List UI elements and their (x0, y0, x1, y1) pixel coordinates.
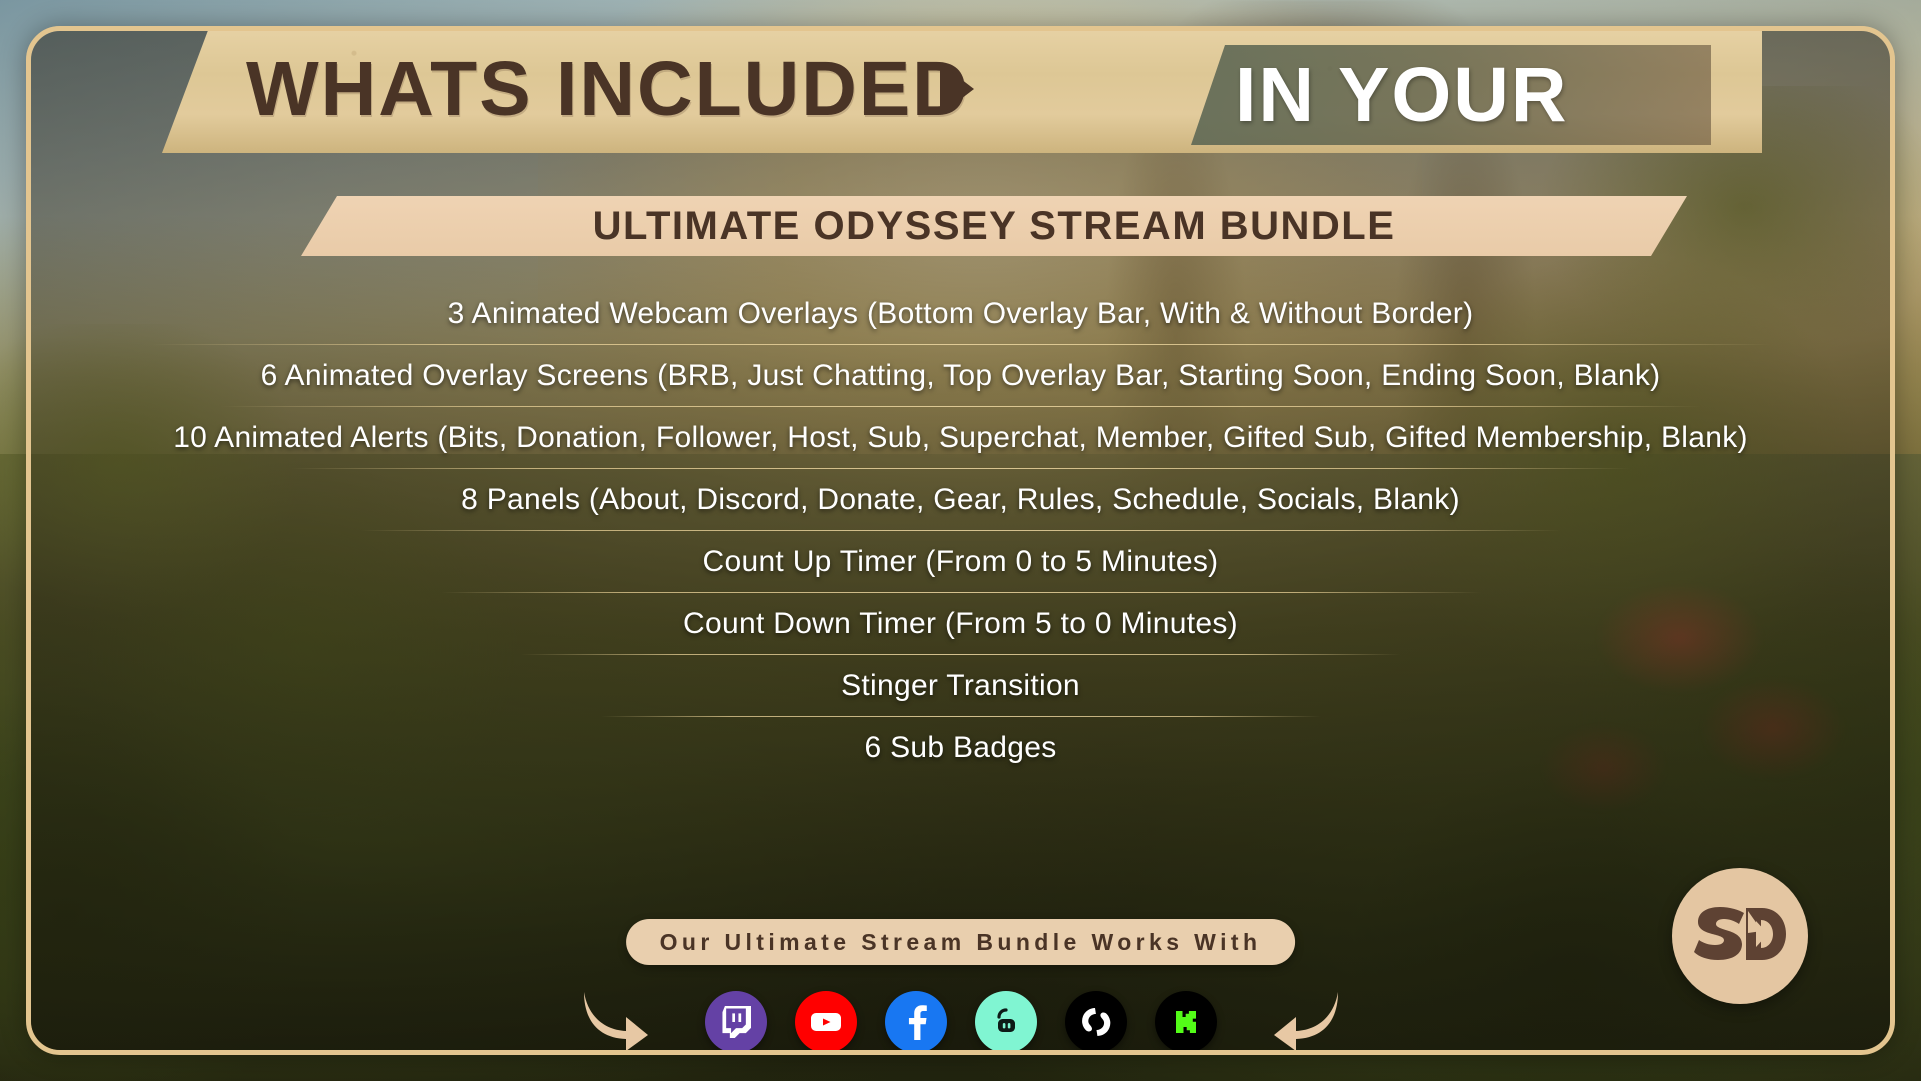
kick-icon[interactable] (1155, 991, 1217, 1053)
sd-play-logo-icon (1690, 903, 1790, 970)
feature-row: 10 Animated Alerts (Bits, Donation, Foll… (31, 407, 1890, 469)
feature-text: 3 Animated Webcam Overlays (Bottom Overl… (448, 297, 1474, 331)
works-with-badge: Our Ultimate Stream Bundle Works With (626, 919, 1296, 965)
feature-row: Stinger Transition (31, 655, 1890, 717)
feature-text: 8 Panels (About, Discord, Donate, Gear, … (461, 483, 1460, 517)
promo-card: WHATS INCLUDED IN YOUR ULTIMATE ODYSSEY … (26, 26, 1895, 1055)
subtitle-banner: ULTIMATE ODYSSEY STREAM BUNDLE (301, 196, 1687, 256)
feature-text: 10 Animated Alerts (Bits, Donation, Foll… (173, 421, 1748, 455)
brand-logo (1672, 868, 1808, 1004)
facebook-icon[interactable] (885, 991, 947, 1053)
feature-row: 6 Animated Overlay Screens (BRB, Just Ch… (31, 345, 1890, 407)
feature-list: 3 Animated Webcam Overlays (Bottom Overl… (31, 283, 1890, 779)
platform-icon-row (569, 986, 1353, 1055)
feature-row: 3 Animated Webcam Overlays (Bottom Overl… (31, 283, 1890, 345)
page-title: WHATS INCLUDED (246, 45, 970, 134)
twitch-icon[interactable] (705, 991, 767, 1053)
feature-text: Count Up Timer (From 0 to 5 Minutes) (703, 545, 1219, 579)
feature-text: Stinger Transition (841, 669, 1080, 703)
title-accent-text: IN YOUR (1235, 51, 1568, 140)
curved-arrow-left-icon (1261, 986, 1353, 1055)
feature-row: Count Up Timer (From 0 to 5 Minutes) (31, 531, 1890, 593)
works-with-label: Our Ultimate Stream Bundle Works With (660, 929, 1262, 956)
streamlabs-icon[interactable] (975, 991, 1037, 1053)
feature-row: Count Down Timer (From 5 to 0 Minutes) (31, 593, 1890, 655)
bundle-name: ULTIMATE ODYSSEY STREAM BUNDLE (593, 204, 1396, 249)
feature-text: 6 Sub Badges (864, 731, 1056, 765)
title-accent-panel: IN YOUR (1191, 45, 1711, 145)
feature-text: Count Down Timer (From 5 to 0 Minutes) (683, 607, 1238, 641)
curved-arrow-right-icon (569, 986, 661, 1055)
feature-row: 6 Sub Badges (31, 717, 1890, 779)
obs-icon[interactable] (1065, 991, 1127, 1053)
feature-row: 8 Panels (About, Discord, Donate, Gear, … (31, 469, 1890, 531)
feature-text: 6 Animated Overlay Screens (BRB, Just Ch… (261, 359, 1661, 393)
youtube-icon[interactable] (795, 991, 857, 1053)
triangle-right-icon (940, 63, 974, 115)
